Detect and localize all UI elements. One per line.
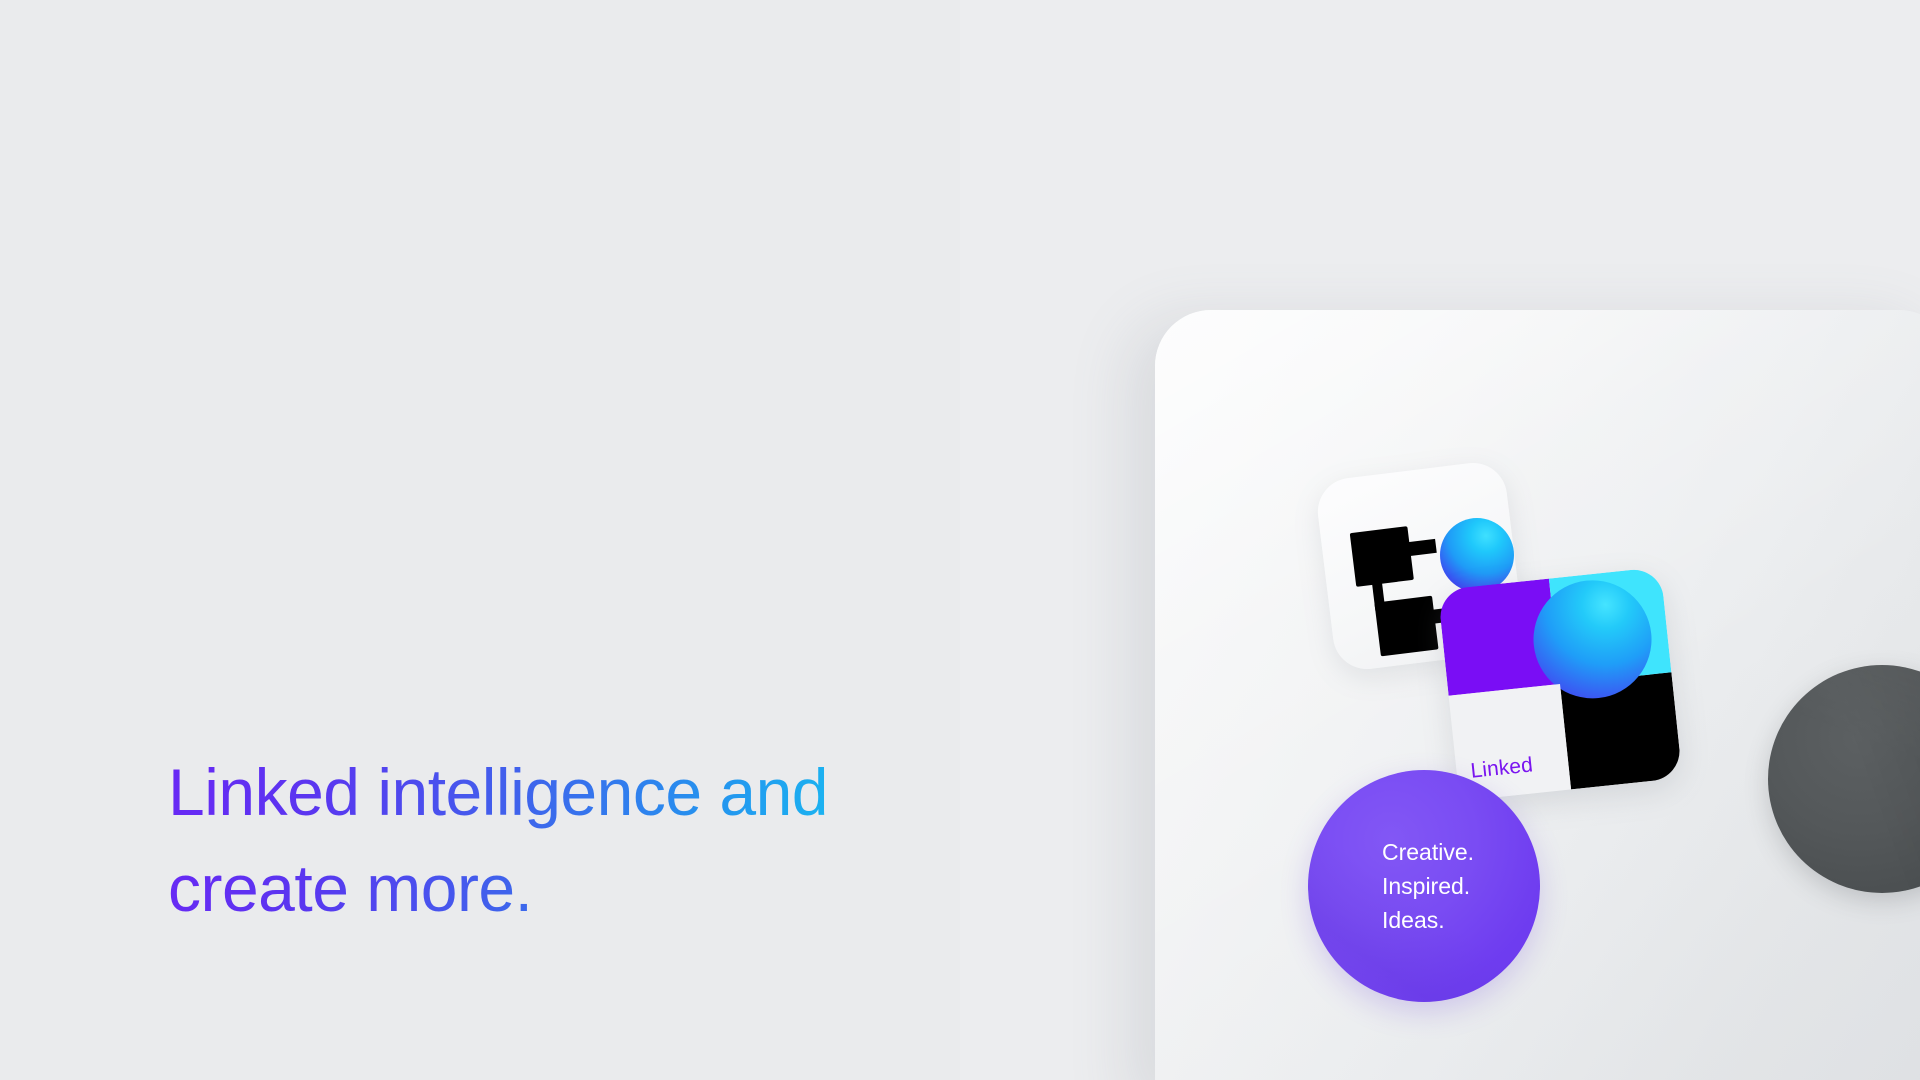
gradient-sphere-small: [1440, 518, 1514, 592]
quad-tile-cyan: [1549, 567, 1671, 684]
hero-stage: Linked Creative. Inspired. Ideas. Linked…: [0, 0, 1920, 1080]
creative-inspired-ideas-badge: Creative. Inspired. Ideas.: [1308, 770, 1540, 1002]
headline-line-2: create more.: [168, 840, 1048, 936]
headline-line-1: Linked intelligence and: [168, 755, 828, 829]
page-headline: Linked intelligence and create more.: [168, 648, 1048, 1032]
linked-quad-sticker-card: Linked: [1438, 567, 1683, 801]
linked-wordmark: Linked: [1469, 753, 1534, 783]
badge-text: Creative. Inspired. Ideas.: [1382, 835, 1474, 937]
